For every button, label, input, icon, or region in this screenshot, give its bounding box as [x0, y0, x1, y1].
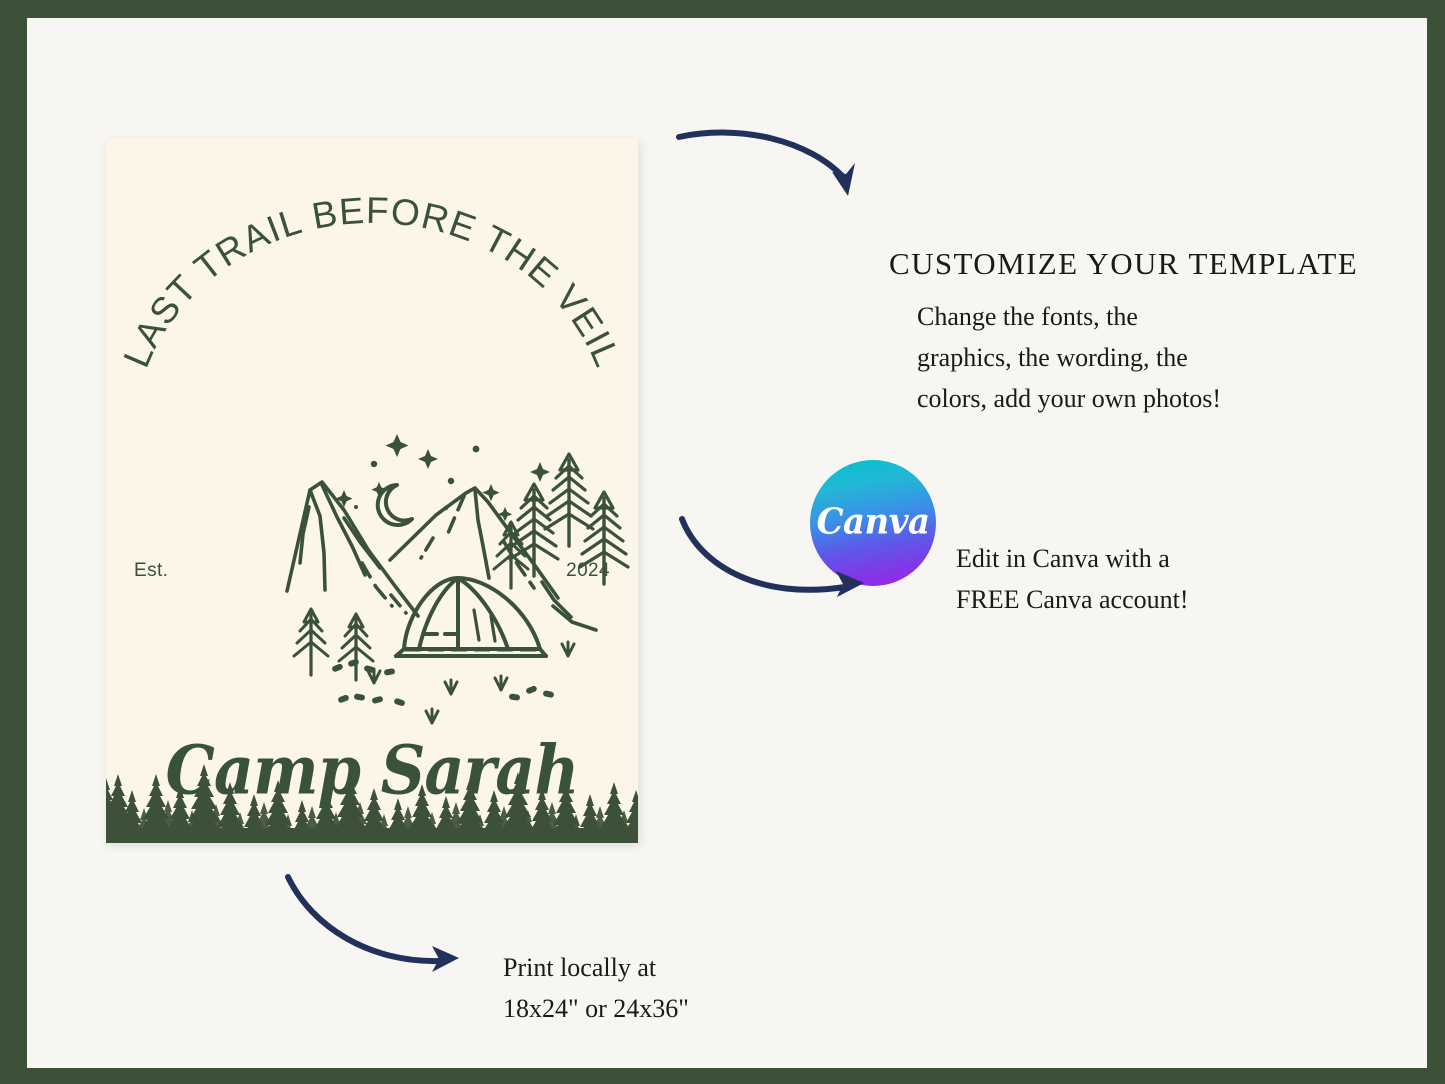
- canva-caption-line: FREE Canva account!: [956, 579, 1286, 620]
- customize-body-line: colors, add your own photos!: [917, 378, 1347, 419]
- canva-caption: Edit in Canva with a FREE Canva account!: [956, 538, 1286, 620]
- canva-wordmark-text: Canva: [816, 501, 929, 543]
- print-caption-line: 18x24" or 24x36": [503, 988, 833, 1029]
- customize-body-line: graphics, the wording, the: [917, 337, 1347, 378]
- print-caption: Print locally at 18x24" or 24x36": [503, 947, 833, 1029]
- right-mountain: [390, 488, 596, 630]
- poster-arc-title: LAST TRAIL BEFORE THE VEIL: [116, 190, 629, 373]
- poster-mockup[interactable]: LAST TRAIL BEFORE THE VEIL: [106, 138, 638, 843]
- canva-caption-line: Edit in Canva with a: [956, 538, 1286, 579]
- poster-year-label: 2024: [566, 560, 610, 582]
- customize-heading: CUSTOMIZE YOUR TEMPLATE: [889, 246, 1358, 282]
- customize-body: Change the fonts, the graphics, the word…: [917, 296, 1347, 419]
- print-caption-line: Print locally at: [503, 947, 833, 988]
- left-mountain: [287, 482, 418, 616]
- screenshot-root: LAST TRAIL BEFORE THE VEIL: [0, 0, 1445, 1084]
- customize-body-line: Change the fonts, the: [917, 296, 1347, 337]
- canva-logo[interactable]: Canva: [810, 460, 936, 586]
- listing-canvas: LAST TRAIL BEFORE THE VEIL: [27, 18, 1427, 1068]
- poster-est-label: Est.: [134, 560, 168, 582]
- crescent-moon-icon: [378, 485, 412, 525]
- poster-camp-name: Camp Sarah: [106, 731, 638, 810]
